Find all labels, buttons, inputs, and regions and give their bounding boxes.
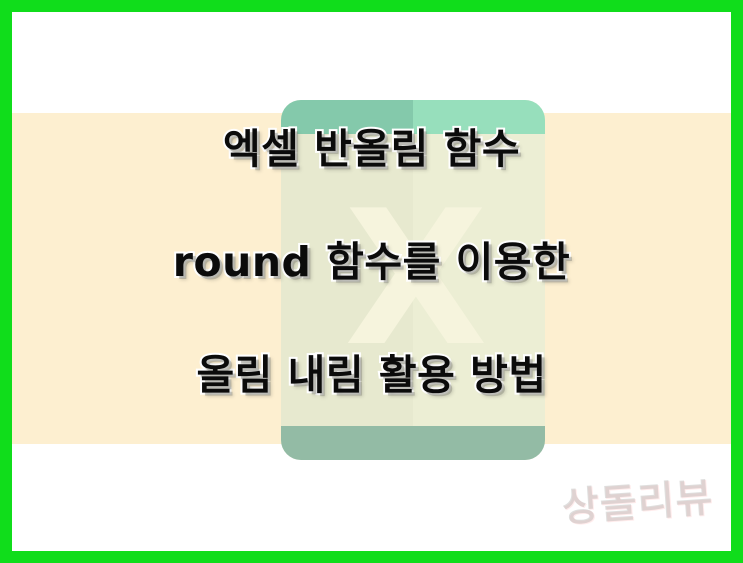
- brand-watermark: 상돌리뷰: [560, 474, 714, 532]
- headline-line-2: round 함수를 이용한: [12, 238, 731, 286]
- card-footer-panel: [281, 426, 545, 460]
- inner-white-canvas: X 엑셀 반올림 함수 round 함수를 이용한 올림 내림 활용 방법 상돌…: [12, 12, 731, 551]
- headline-block: 엑셀 반올림 함수 round 함수를 이용한 올림 내림 활용 방법: [12, 125, 731, 399]
- thumbnail-canvas: X 엑셀 반올림 함수 round 함수를 이용한 올림 내림 활용 방법 상돌…: [0, 0, 743, 563]
- headline-line-3: 올림 내림 활용 방법: [12, 351, 731, 399]
- headline-line-1: 엑셀 반올림 함수: [12, 125, 731, 173]
